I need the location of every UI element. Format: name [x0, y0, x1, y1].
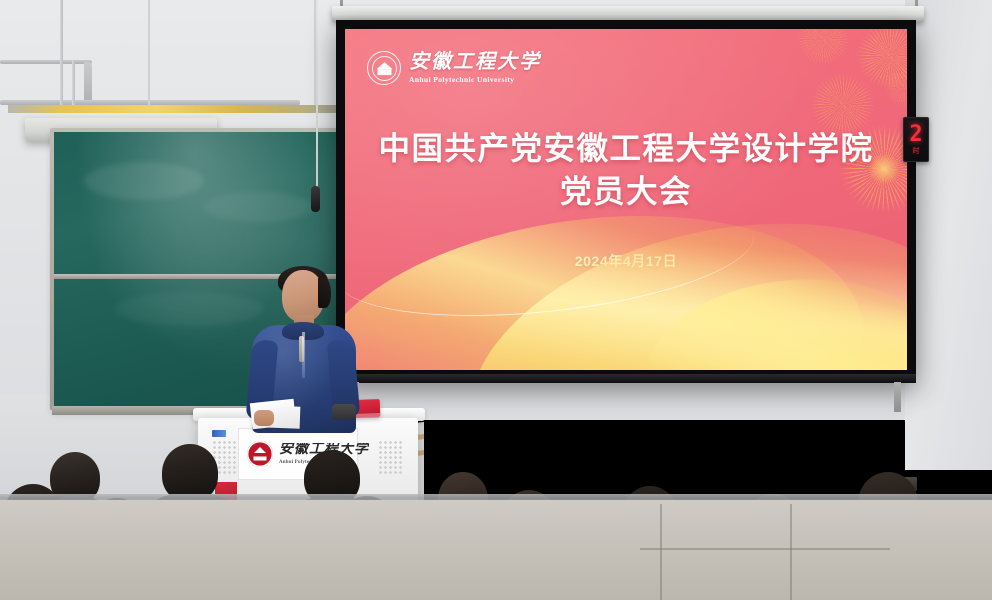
floor	[0, 500, 992, 600]
microphone-cable	[316, 0, 318, 190]
floor-tile-line-1	[660, 504, 662, 600]
screen-hanger-a	[148, 0, 150, 112]
logo-english-text: Anhui Polytechnic University	[409, 76, 541, 84]
speaker-zipper	[302, 332, 305, 378]
podium-badge	[212, 430, 226, 437]
projection-screen: 安徽工程大学 Anhui Polytechnic University 中国共产…	[336, 20, 916, 380]
speaker-hand	[254, 410, 274, 426]
firework-decoration-1	[797, 29, 849, 65]
speaker-hair-side	[318, 278, 331, 308]
university-seal-icon	[367, 51, 401, 85]
logo-chinese-text: 安徽工程大学	[409, 52, 541, 72]
right-wall	[905, 0, 992, 470]
classroom-photo: 安徽工程大学 Anhui Polytechnic University 中国共产…	[0, 0, 992, 600]
screen-support-right	[894, 382, 901, 412]
slide-university-logo: 安徽工程大学 Anhui Polytechnic University	[367, 51, 541, 85]
fluorescent-light-strip	[8, 105, 338, 113]
firework-decoration-3	[857, 29, 907, 89]
ceiling-conduit-horizontal	[0, 60, 92, 64]
floor-tile-line-3	[640, 548, 890, 550]
led-digit: 2	[909, 124, 922, 146]
projection-screen-bottom-bar	[336, 374, 916, 383]
presentation-slide: 安徽工程大学 Anhui Polytechnic University 中国共产…	[345, 29, 907, 370]
led-sub-label: 时	[913, 148, 920, 155]
ceiling-conduit-horizontal-2	[84, 62, 92, 104]
speaker-presenter	[250, 270, 360, 430]
floor-tile-line-2	[790, 504, 792, 600]
podium-vent-right	[378, 440, 404, 474]
firework-decoration-5	[885, 67, 907, 107]
microphone-icon	[311, 186, 320, 212]
speaker-cuff	[332, 404, 356, 420]
led-clock-display: 2 时	[903, 117, 929, 162]
conduit-vertical-a	[60, 0, 63, 108]
conduit-vertical-b	[72, 60, 75, 108]
podium-seal-icon	[247, 441, 273, 467]
